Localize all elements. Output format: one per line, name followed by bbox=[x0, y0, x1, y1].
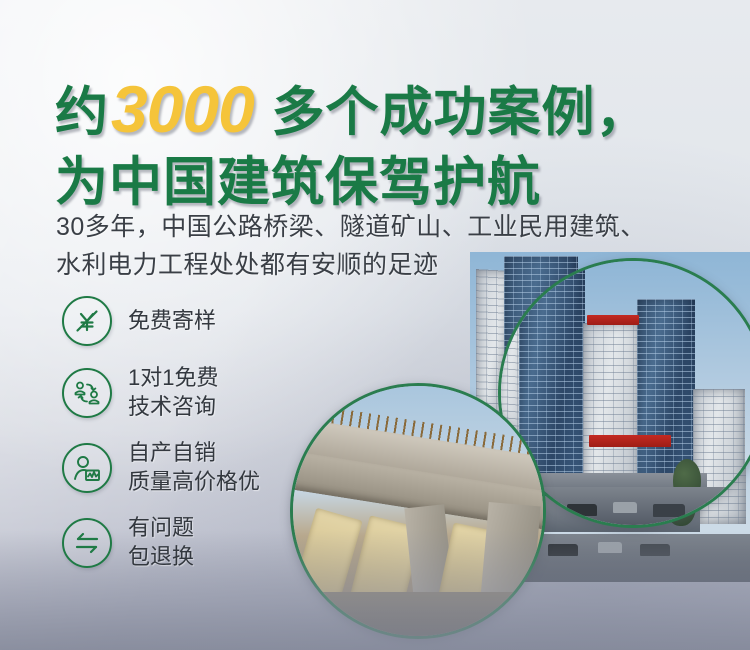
feature-label-line-1: 有问题 bbox=[128, 515, 194, 540]
no-fee-yuan-icon bbox=[62, 296, 112, 346]
feature-label: 自产自销 质量高价格优 bbox=[128, 439, 260, 496]
exchange-return-icon bbox=[62, 518, 112, 568]
promo-banner: 约3000 多个成功案例， 为中国建筑保驾护航 30多年，中国公路桥梁、隧道矿山… bbox=[0, 0, 750, 650]
self-produce-sell-icon bbox=[62, 443, 112, 493]
headline: 约3000 多个成功案例， 为中国建筑保驾护航 bbox=[55, 76, 650, 209]
feature-label-line-2: 技术咨询 bbox=[128, 393, 218, 422]
feature-item-consult[interactable]: 1对1免费 技术咨询 bbox=[62, 364, 322, 421]
feature-item-return-exchange[interactable]: 有问题 包退换 bbox=[62, 514, 322, 571]
feature-item-free-sample[interactable]: 免费寄样 bbox=[62, 296, 322, 346]
feature-label-line-1: 免费寄样 bbox=[128, 308, 216, 333]
one-to-one-consult-icon bbox=[62, 368, 112, 418]
headline-number: 3000 bbox=[109, 72, 256, 146]
feature-list: 免费寄样 1对1免 bbox=[62, 296, 322, 590]
feature-label-line-1: 1对1免费 bbox=[128, 365, 218, 390]
feature-label-line-1: 自产自销 bbox=[128, 440, 216, 465]
feature-label: 1对1免费 技术咨询 bbox=[128, 364, 218, 421]
headline-line-1: 约3000 多个成功案例， bbox=[55, 76, 650, 142]
headline-prefix: 约 bbox=[55, 83, 109, 142]
feature-label: 免费寄样 bbox=[128, 307, 216, 336]
feature-label-line-2: 包退换 bbox=[128, 543, 194, 572]
headline-line-2: 为中国建筑保驾护航 bbox=[55, 156, 650, 209]
subtitle-line-1: 30多年，中国公路桥梁、隧道矿山、工业民用建筑、 bbox=[56, 208, 646, 246]
headline-suffix: 多个成功案例， bbox=[256, 83, 650, 142]
feature-label: 有问题 包退换 bbox=[128, 514, 194, 571]
bridge-photo bbox=[290, 383, 546, 639]
feature-label-line-2: 质量高价格优 bbox=[128, 468, 260, 497]
feature-item-self-production[interactable]: 自产自销 质量高价格优 bbox=[62, 439, 322, 496]
